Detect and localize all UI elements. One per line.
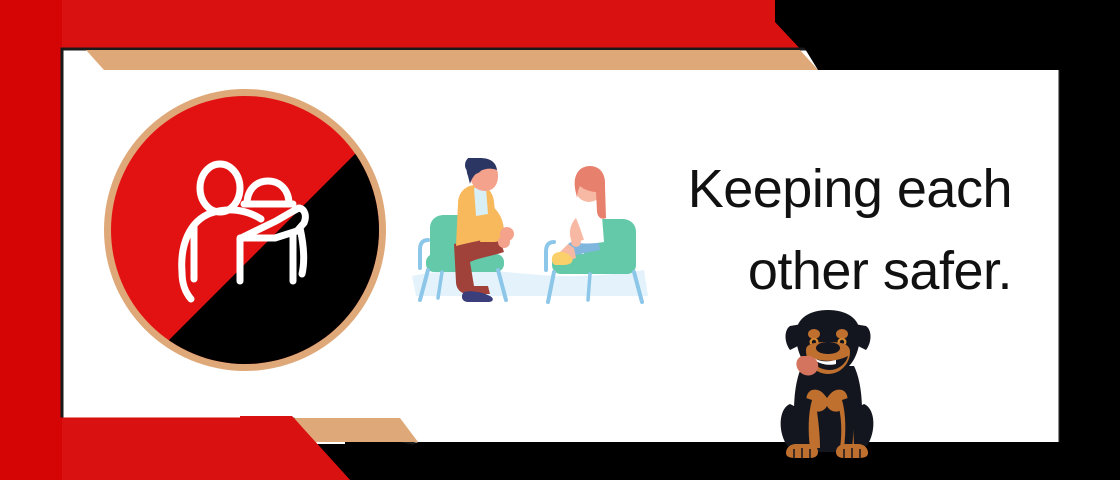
bottom-black-overlay xyxy=(350,442,1120,480)
adult-top xyxy=(474,188,488,216)
dog-body xyxy=(781,366,874,458)
right-black-band-overlay xyxy=(1060,0,1120,480)
dog-head xyxy=(786,310,871,375)
top-tan-stripe-overlay xyxy=(86,50,818,70)
top-red-band-fill xyxy=(62,0,775,48)
organisation-badge-logo xyxy=(101,86,389,374)
rottweiler-dog-illustration xyxy=(772,308,882,460)
adult-hand-2 xyxy=(498,236,510,248)
bottom-tan-stripe-overlay xyxy=(295,418,418,442)
child-hand xyxy=(571,237,581,247)
dog-nose xyxy=(816,342,840,354)
left-red-band xyxy=(0,0,62,480)
headline-text: Keeping each other safer. xyxy=(600,148,1012,312)
child-figure xyxy=(552,166,606,265)
safety-campaign-banner: Keeping each other safer. xyxy=(0,0,1120,480)
dog-brow-left xyxy=(808,329,820,339)
child-chair-leg-mid xyxy=(588,274,590,300)
bottom-red-band-left xyxy=(0,416,62,480)
dog-brow-right xyxy=(836,329,848,339)
